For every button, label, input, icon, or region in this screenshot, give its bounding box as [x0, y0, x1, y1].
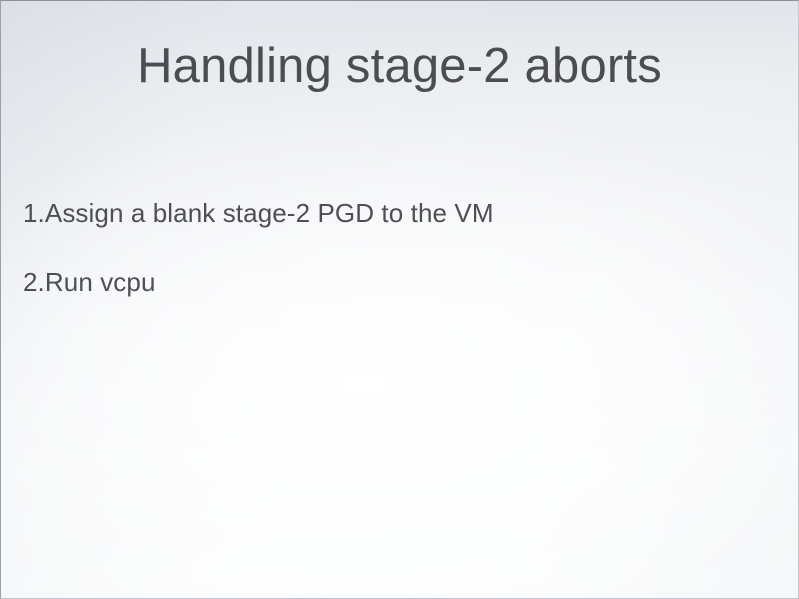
slide-title: Handling stage-2 aborts [0, 40, 799, 94]
slide-body-line-1: 1.Assign a blank stage-2 PGD to the VM [23, 199, 759, 229]
slide-body-list: 1.Assign a blank stage-2 PGD to the VM 2… [23, 199, 759, 298]
slide-content: Handling stage-2 aborts 1.Assign a blank… [0, 0, 799, 599]
presentation-slide: Handling stage-2 aborts 1.Assign a blank… [0, 0, 799, 599]
slide-body-line-2: 2.Run vcpu [23, 268, 759, 298]
